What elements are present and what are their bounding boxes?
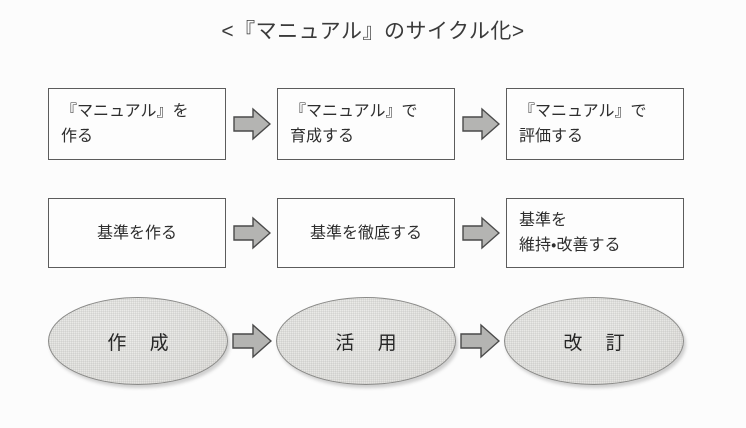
right-arrow-icon bbox=[233, 107, 271, 141]
node-line: 『マニュアル』で bbox=[519, 99, 647, 124]
node-kijun-create[interactable]: 基準を作る bbox=[48, 198, 226, 268]
node-cycle-revision[interactable]: 改 訂 bbox=[504, 297, 684, 385]
node-manual-create[interactable]: 『マニュアル』を 作る bbox=[48, 88, 226, 160]
flow-row-kijun: 基準を作る 基準を徹底する 基準を 維持・改善する bbox=[48, 198, 684, 268]
node-manual-evaluate[interactable]: 『マニュアル』で 評価する bbox=[506, 88, 684, 160]
node-line: 『マニュアル』で bbox=[290, 99, 418, 124]
node-line: 作 成 bbox=[98, 328, 177, 355]
right-arrow-icon bbox=[460, 323, 500, 359]
diagram-title: <『マニュアル』のサイクル化> bbox=[0, 18, 746, 46]
node-line: 評価する bbox=[519, 124, 583, 149]
node-manual-develop[interactable]: 『マニュアル』で 育成する bbox=[277, 88, 455, 160]
right-arrow-icon bbox=[462, 107, 500, 141]
node-line: 活 用 bbox=[326, 328, 405, 355]
node-cycle-utilization[interactable]: 活 用 bbox=[276, 297, 456, 385]
node-line: 基準を bbox=[519, 208, 567, 233]
node-line: 育成する bbox=[290, 124, 354, 149]
node-line: 維持・改善する bbox=[519, 233, 620, 258]
node-line: 基準を作る bbox=[97, 221, 177, 246]
node-cycle-creation[interactable]: 作 成 bbox=[48, 297, 228, 385]
right-arrow-icon bbox=[462, 216, 500, 250]
node-kijun-maintain[interactable]: 基準を 維持・改善する bbox=[506, 198, 684, 268]
flow-row-cycle: 作 成 活 用 改 訂 bbox=[48, 296, 684, 386]
diagram-canvas: <『マニュアル』のサイクル化> 『マニュアル』を 作る 『マニュアル』で 育成す… bbox=[0, 0, 746, 428]
node-line: 改 訂 bbox=[554, 328, 633, 355]
node-kijun-enforce[interactable]: 基準を徹底する bbox=[277, 198, 455, 268]
node-line: 『マニュアル』を bbox=[61, 99, 189, 124]
right-arrow-icon bbox=[232, 323, 272, 359]
right-arrow-icon bbox=[233, 216, 271, 250]
node-line: 基準を徹底する bbox=[310, 221, 422, 246]
node-line: 作る bbox=[61, 124, 93, 149]
flow-row-manual: 『マニュアル』を 作る 『マニュアル』で 育成する 『マニュアル』で 評価する bbox=[48, 88, 684, 160]
